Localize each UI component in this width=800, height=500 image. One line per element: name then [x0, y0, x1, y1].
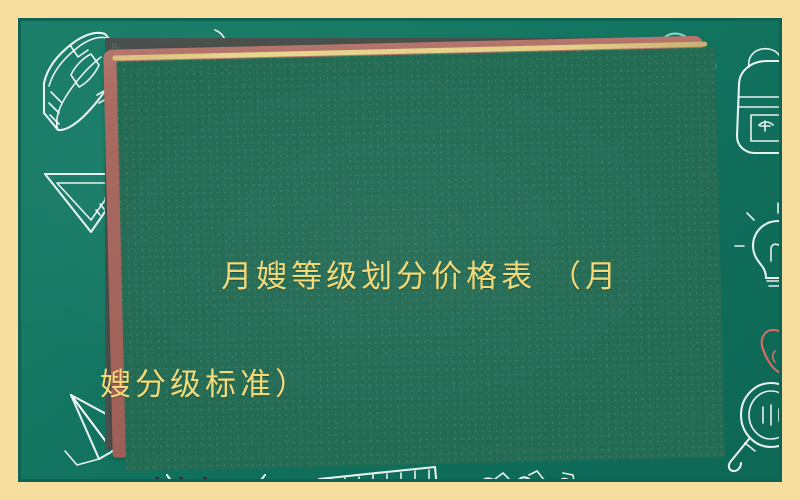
magnifier-doodle — [721, 381, 779, 475]
inner-chalkboard — [103, 36, 712, 458]
brushes-doodle — [459, 469, 591, 479]
inner-board-frame — [103, 36, 712, 458]
sparkle-doodle — [161, 473, 291, 479]
backpack-doodle — [721, 45, 779, 163]
outer-yellow-frame: ℞ 月嫂等级划分价格表 （月 嫂分级标准） — [0, 0, 800, 500]
lightbulb-doodle — [735, 199, 779, 293]
inner-board-surface — [116, 47, 724, 471]
apple-red-doodle — [747, 321, 779, 383]
